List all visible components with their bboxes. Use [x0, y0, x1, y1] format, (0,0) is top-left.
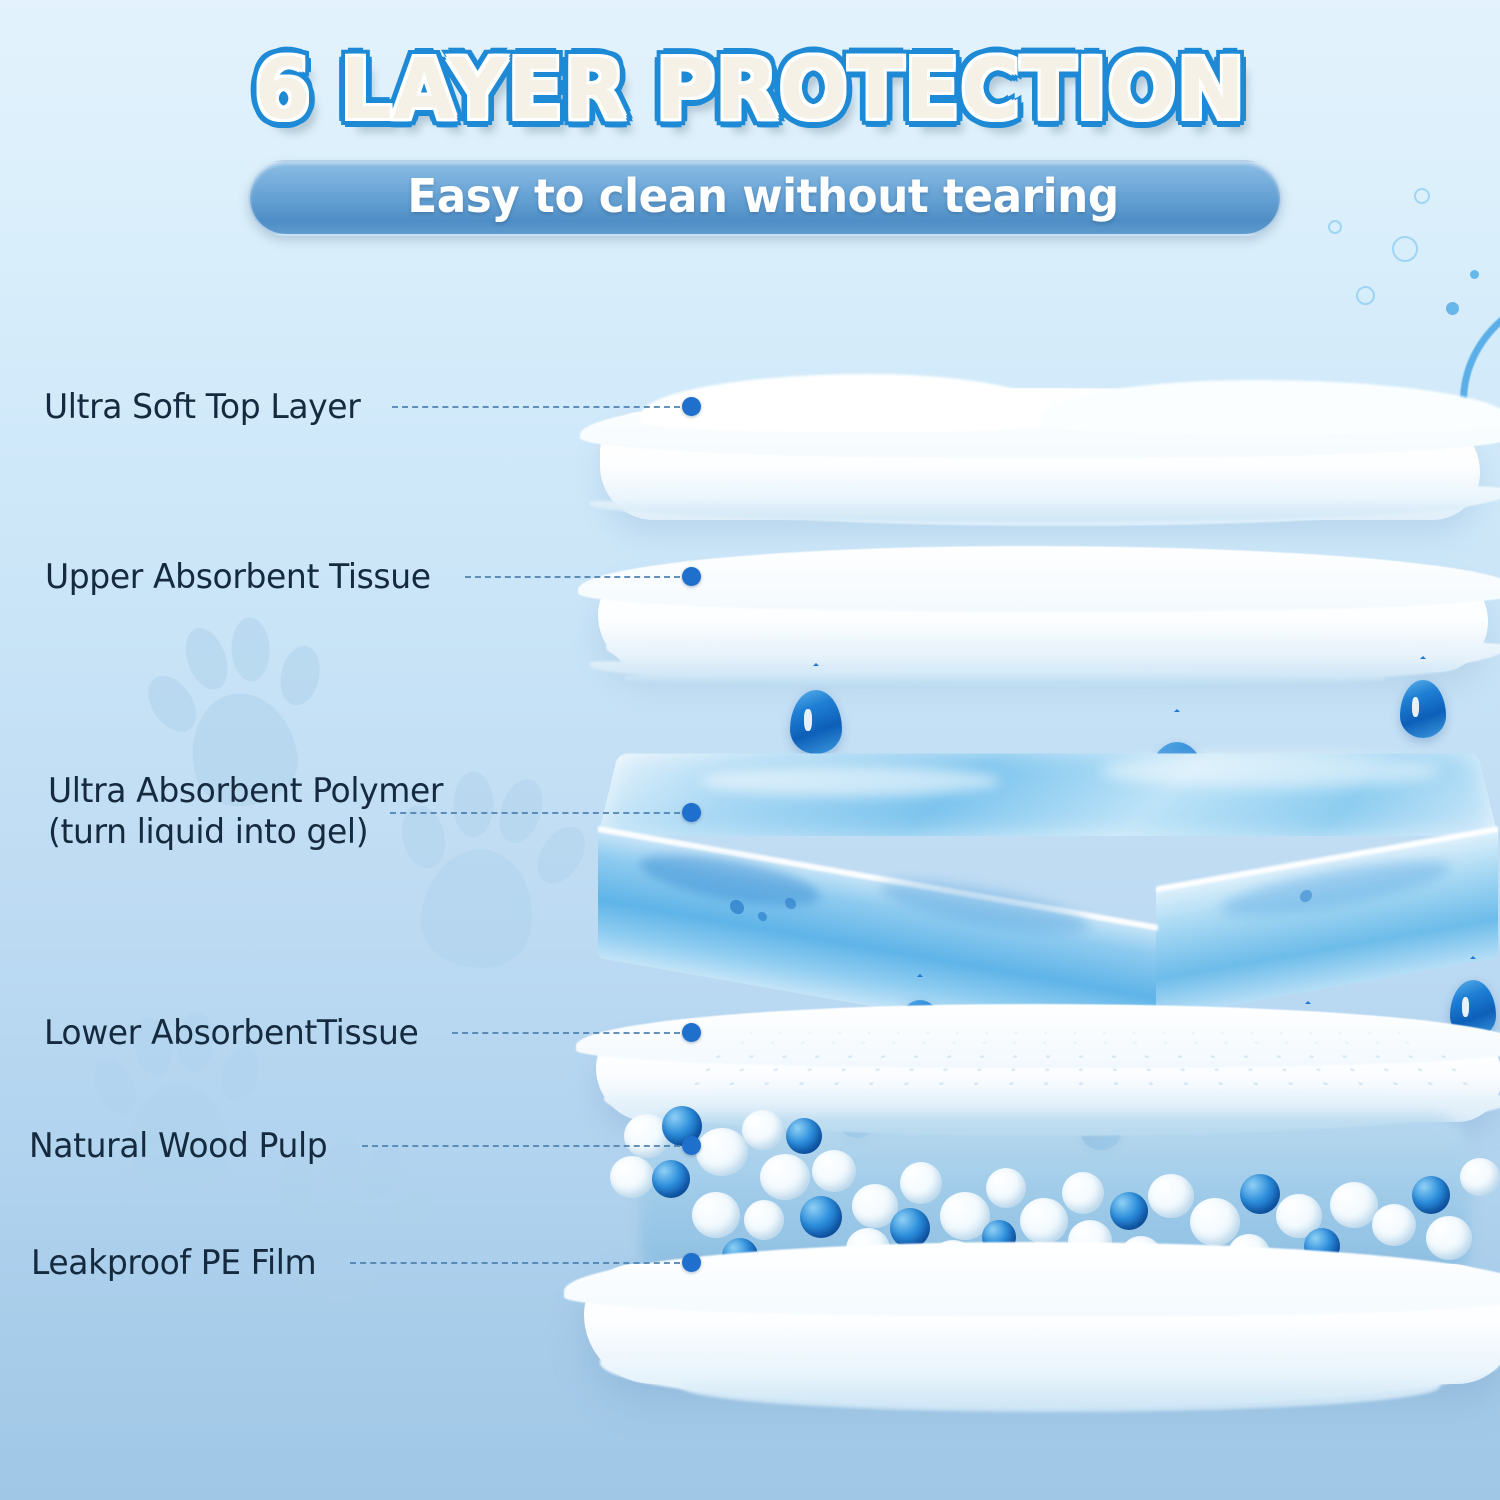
callout-leader-line-6: [350, 1262, 680, 1264]
callout-leader-line-3: [390, 812, 680, 814]
callout-label-2: Upper Absorbent Tissue: [45, 557, 431, 597]
callout-leader-line-1: [392, 406, 680, 408]
callout-dot-6: [682, 1253, 701, 1272]
callout-dot-5: [682, 1136, 701, 1155]
page-title: 6 LAYER PROTECTION: [30, 40, 1470, 138]
callout-dot-3: [682, 803, 701, 822]
callout-label-4: Lower AbsorbentTissue: [44, 1013, 418, 1053]
callout-leader-line-4: [452, 1032, 680, 1034]
infographic-canvas: 6 LAYER PROTECTION Easy to clean without…: [0, 0, 1500, 1500]
callout-dot-2: [682, 567, 701, 586]
callout-leader-line-5: [362, 1145, 680, 1147]
callout-label-6: Leakproof PE Film: [31, 1243, 316, 1283]
callout-dot-1: [682, 397, 701, 416]
callout-label-5: Natural Wood Pulp: [29, 1126, 327, 1166]
callout-label-3: Ultra Absorbent Polymer (turn liquid int…: [48, 771, 443, 854]
layer-upper-absorbent-tissue: [570, 530, 1500, 720]
layer-ultra-absorbent-polymer: [580, 740, 1500, 1000]
subtitle-text: Easy to clean without tearing: [274, 160, 1253, 232]
layer-leakproof-pe-film: [560, 1230, 1500, 1460]
callout-dot-4: [682, 1023, 701, 1042]
callout-label-1: Ultra Soft Top Layer: [44, 387, 360, 427]
callout-leader-line-2: [465, 576, 680, 578]
